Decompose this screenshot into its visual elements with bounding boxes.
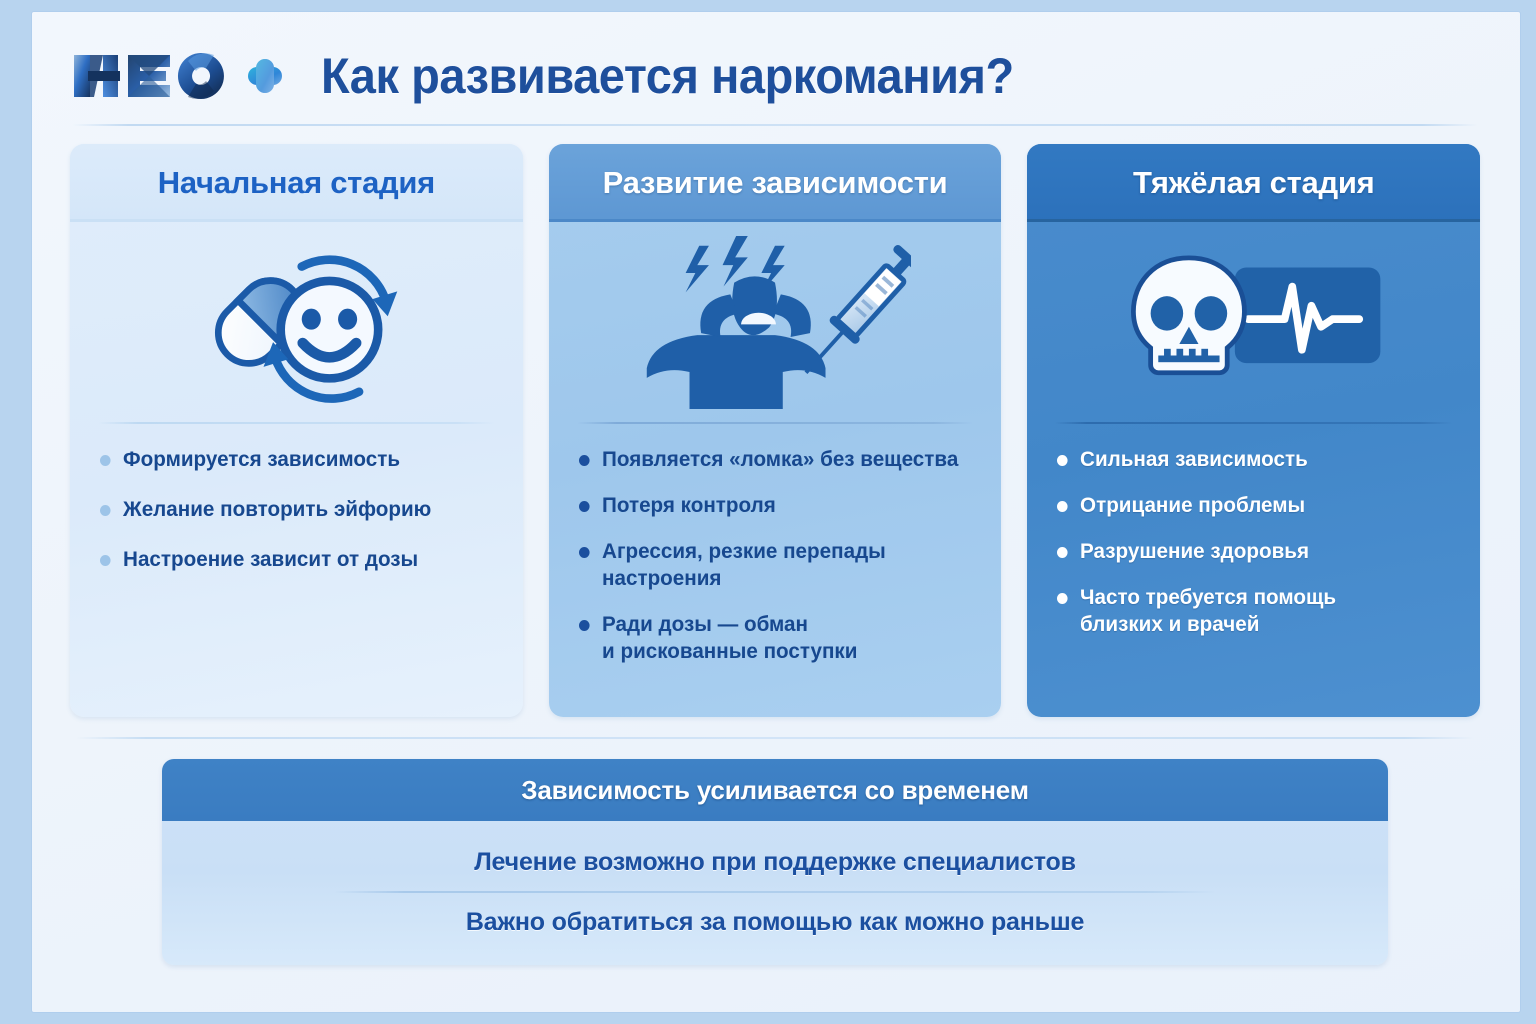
stage-card-initial-title: Начальная стадия (70, 144, 523, 222)
stage-card-severe-bullets: Сильная зависимость Отрицание проблемы Р… (1027, 424, 1480, 717)
list-item: Формируется зависимость (100, 446, 481, 473)
bullet-dot-icon (1057, 455, 1068, 466)
summary-banner-wrap: Зависимость усиливается со временем Лече… (70, 739, 1480, 996)
list-item: Разрушение здоровья (1057, 538, 1438, 565)
page-title: Как развивается наркомания? (321, 47, 1014, 105)
bullet-dot-icon (1057, 593, 1068, 604)
bullet-dot-icon (579, 501, 590, 512)
list-item: Настроение зависит от дозы (100, 546, 481, 573)
bullet-dot-icon (579, 455, 590, 466)
infographic-poster: Как развивается наркомания? Начальная ст… (0, 0, 1536, 1024)
list-item: Сильная зависимость (1057, 446, 1438, 473)
bullet-dot-icon (579, 547, 590, 558)
stage-card-severe-title: Тяжёлая стадия (1027, 144, 1480, 222)
skull-and-ecg-icon (1027, 222, 1480, 422)
stage-card-development[interactable]: Развитие зависимости (549, 144, 1002, 717)
stage-card-development-bullets: Появляется «ломка» без вещества Потеря к… (549, 424, 1002, 717)
header-divider (72, 124, 1478, 126)
list-item: Потеря контроля (579, 492, 960, 519)
list-item: Ради дозы — обман и рискованные поступки (579, 611, 960, 665)
bullet-dot-icon (579, 620, 590, 631)
list-item: Появляется «ломка» без вещества (579, 446, 960, 473)
summary-banner-line-1: Лечение возможно при поддержке специалис… (162, 833, 1388, 891)
list-item: Отрицание проблемы (1057, 492, 1438, 519)
bullet-dot-icon (1057, 547, 1068, 558)
neo-plus-logo (70, 45, 285, 107)
stage-card-initial-bullets: Формируется зависимость Желание повторит… (70, 424, 523, 717)
summary-banner-headline: Зависимость усиливается со временем (162, 759, 1388, 821)
stage-card-initial[interactable]: Начальная стадия (70, 144, 523, 717)
banner-spacer-bottom (162, 951, 1388, 965)
poster-header: Как развивается наркомания? (70, 38, 1480, 114)
stage-card-severe[interactable]: Тяжёлая стадия (1027, 144, 1480, 717)
poster-page: Как развивается наркомания? Начальная ст… (32, 12, 1520, 1012)
banner-spacer-top (162, 821, 1388, 833)
list-item: Желание повторить эйфорию (100, 496, 481, 523)
stage-card-development-title: Развитие зависимости (549, 144, 1002, 222)
stages-row: Начальная стадия (70, 144, 1480, 717)
bullet-dot-icon (100, 455, 111, 466)
pill-and-smiley-cycle-icon (70, 222, 523, 422)
bullet-dot-icon (100, 505, 111, 516)
summary-banner[interactable]: Зависимость усиливается со временем Лече… (162, 759, 1388, 965)
bullet-dot-icon (100, 555, 111, 566)
list-item: Агрессия, резкие перепады настроения (579, 538, 960, 592)
stressed-person-and-syringe-icon (549, 222, 1002, 422)
bullet-dot-icon (1057, 501, 1068, 512)
list-item: Часто требуется помощь близких и врачей (1057, 584, 1438, 638)
summary-banner-line-2: Важно обратиться за помощью как можно ра… (162, 893, 1388, 951)
